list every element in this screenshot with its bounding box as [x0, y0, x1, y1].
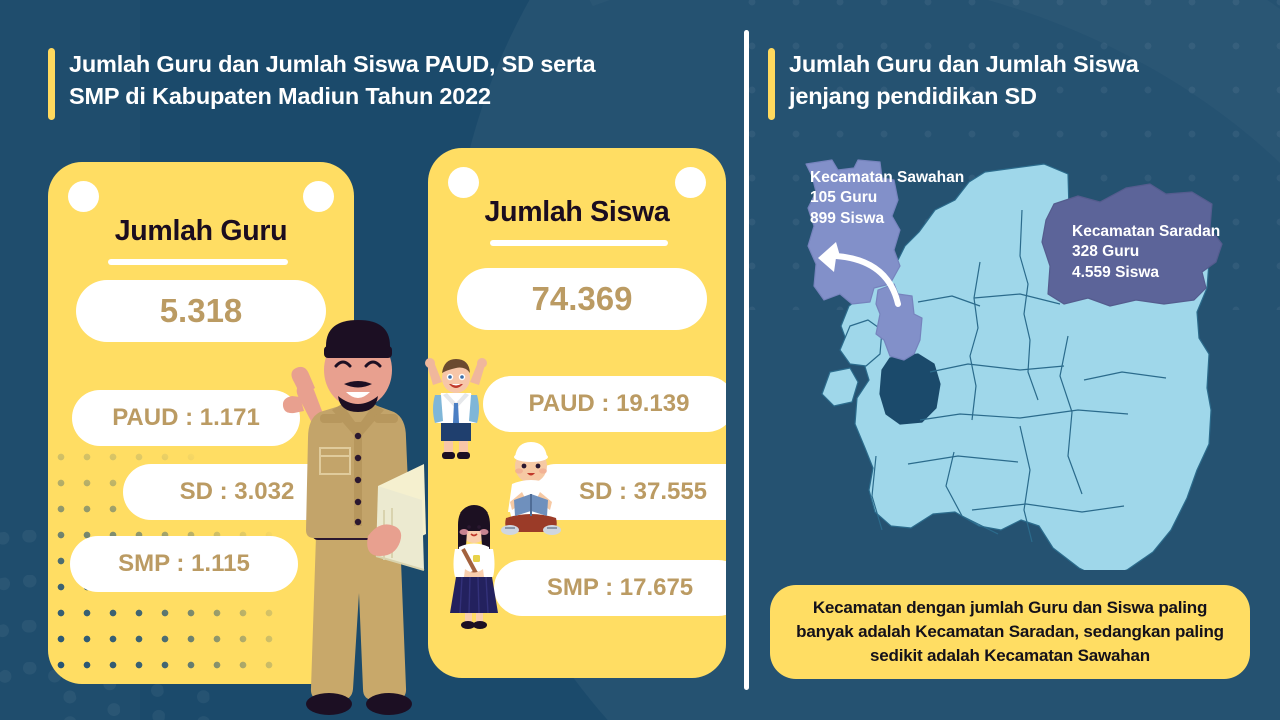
sawahan-pointer-arrow [786, 238, 906, 318]
map-label-saradan-name: Kecamatan Saradan [1072, 222, 1220, 242]
card-guru-row-paud: PAUD : 1.171 [72, 390, 300, 446]
card-guru-heading: Jumlah Guru [48, 215, 354, 248]
map-caption-box: Kecamatan dengan jumlah Guru dan Siswa p… [770, 585, 1250, 679]
left-panel-title: Jumlah Guru dan Jumlah Siswa PAUD, SD se… [48, 48, 708, 120]
card-punch-hole-right [675, 167, 706, 198]
card-punch-hole-left [448, 167, 479, 198]
girl-student-illustration [443, 503, 505, 631]
boy-student-illustration [425, 355, 487, 460]
map-caption-text: Kecamatan dengan jumlah Guru dan Siswa p… [788, 596, 1232, 668]
teacher-illustration [268, 300, 448, 720]
title-accent-bar [768, 48, 775, 120]
map-label-sawahan-name: Kecamatan Sawahan [810, 168, 964, 188]
card-siswa-row-paud: PAUD : 19.139 [483, 376, 726, 432]
card-siswa-row-smp: SMP : 17.675 [494, 560, 726, 616]
card-punch-hole-right [303, 181, 334, 212]
vertical-divider [744, 30, 749, 690]
card-siswa-underline [490, 240, 668, 246]
map-region-dark [880, 354, 940, 424]
map-label-saradan-siswa: 4.559 Siswa [1072, 263, 1220, 283]
title-accent-bar [48, 48, 55, 120]
card-guru-row-smp: SMP : 1.115 [70, 536, 298, 592]
card-siswa-total-pill: 74.369 [457, 268, 707, 330]
right-panel-title: Jumlah Guru dan Jumlah Siswa jenjang pen… [768, 48, 1238, 120]
right-title-text: Jumlah Guru dan Jumlah Siswa jenjang pen… [789, 48, 1139, 112]
map-label-saradan: Kecamatan Saradan 328 Guru 4.559 Siswa [1072, 222, 1220, 283]
left-title-text: Jumlah Guru dan Jumlah Siswa PAUD, SD se… [69, 48, 595, 112]
map-label-sawahan: Kecamatan Sawahan 105 Guru 899 Siswa [810, 168, 964, 229]
card-guru-underline [108, 259, 288, 265]
card-punch-hole-left [68, 181, 99, 212]
map-label-saradan-guru: 328 Guru [1072, 242, 1220, 262]
map-label-sawahan-guru: 105 Guru [810, 188, 964, 208]
card-siswa-heading: Jumlah Siswa [428, 196, 726, 229]
map-label-sawahan-siswa: 899 Siswa [810, 209, 964, 229]
